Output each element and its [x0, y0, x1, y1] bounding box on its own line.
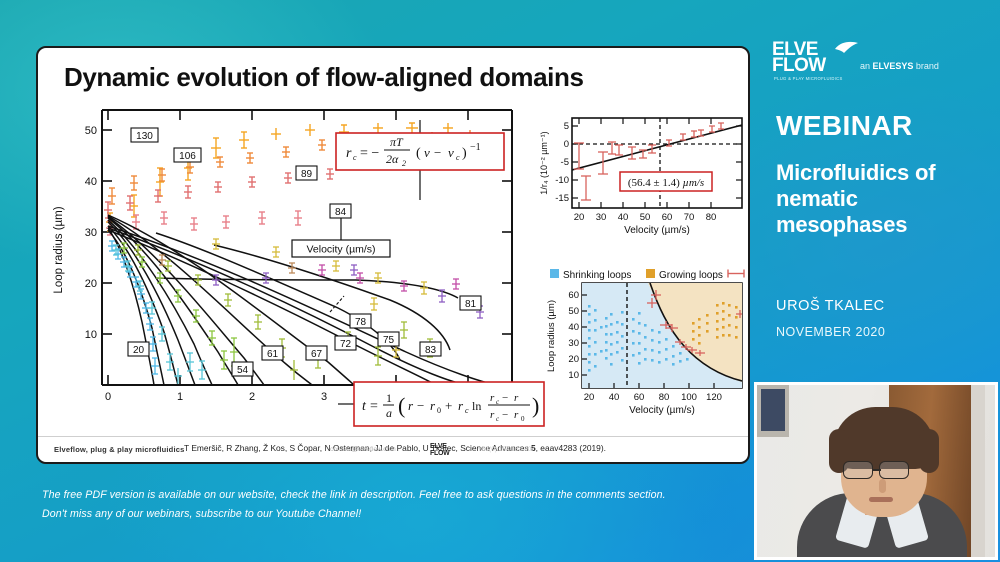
legend-shrinking-label: Shrinking loops	[563, 270, 631, 281]
main-ytick-10: 10	[85, 329, 97, 341]
main-xtick-1: 1	[177, 391, 183, 403]
svg-text:2α: 2α	[386, 152, 399, 166]
speaker-name: UROŠ TKALEC	[776, 298, 885, 314]
webinar-label: WEBINAR	[776, 110, 913, 142]
equation-rc-box: rc = − πT 2α2 ( v − vc ) −1	[336, 133, 504, 170]
cam-glasses-left	[843, 461, 873, 479]
svg-text:30: 30	[596, 212, 607, 223]
swoosh-icon	[834, 40, 860, 54]
svg-text:r: r	[346, 146, 352, 161]
svg-text:81: 81	[465, 299, 477, 310]
footer-phone: +33(0) 184 163 807	[478, 446, 535, 453]
slide-footer: Elveflow, plug & play microfluidics cont…	[38, 436, 750, 462]
figure-container: 50 40 30 20 10 Loop radius (µm) 0 1 2 3	[38, 100, 750, 440]
cam-glasses-right	[879, 461, 909, 479]
inset1-xlabel: Velocity (µm/s)	[624, 225, 690, 236]
svg-text:40: 40	[618, 212, 629, 223]
footer-company: Elveflow, plug & play microfluidics	[54, 445, 185, 454]
slide-title: Dynamic evolution of flow-aligned domain…	[64, 62, 584, 93]
svg-text:−1: −1	[470, 142, 481, 153]
svg-text:60: 60	[662, 212, 673, 223]
webinar-date: NOVEMBER 2020	[776, 325, 885, 339]
svg-text:130: 130	[136, 131, 153, 142]
svg-text:r: r	[490, 392, 495, 404]
svg-text:20: 20	[133, 345, 145, 356]
caption-line-2: Don't miss any of our webinars, subscrib…	[42, 505, 702, 524]
footer-logo: ELVE FLOW	[430, 443, 449, 457]
legend-growing-label: Growing loops	[659, 270, 723, 281]
svg-text:(: (	[398, 393, 405, 418]
svg-text:(: (	[416, 146, 421, 161]
footer-email: contact@elveflow.com	[330, 446, 396, 453]
cam-mouth	[869, 497, 893, 502]
cam-glasses-bridge	[873, 469, 881, 471]
svg-text:10: 10	[568, 370, 579, 381]
cam-nose	[879, 479, 886, 493]
svg-text:70: 70	[684, 212, 695, 223]
velocity-legend-box: Velocity (µm/s)	[292, 240, 390, 257]
cam-hair-right	[919, 429, 939, 473]
svg-text:−: −	[502, 392, 508, 404]
elveflow-logo: ELVE FLOW PLUG & PLAY MICROFLUIDICS an E…	[772, 42, 982, 90]
svg-text:Velocity (µm/s): Velocity (µm/s)	[306, 244, 375, 256]
svg-text:c: c	[456, 153, 460, 162]
main-xtick-3: 3	[321, 391, 327, 403]
svg-text:πT: πT	[390, 135, 404, 149]
brand-parent: an ELVESYS brand	[860, 61, 939, 71]
phase-legend: Shrinking loops Growing loops r₀	[550, 269, 750, 281]
critical-velocity-annotation: (56.4 ± 1.4) µm/s	[620, 172, 712, 191]
svg-text:-5: -5	[561, 157, 569, 168]
svg-text:20: 20	[568, 354, 579, 365]
cam-shelf-books	[761, 389, 785, 431]
main-ylabel: Loop radius (µm)	[53, 206, 65, 293]
main-ytick-50: 50	[85, 125, 97, 137]
brand-tagline: PLUG & PLAY MICROFLUIDICS	[774, 76, 843, 81]
inset1-ylabel: 1/r₄ (10⁻² µm⁻¹)	[539, 131, 549, 194]
svg-text:2: 2	[402, 159, 406, 168]
svg-text:89: 89	[301, 169, 313, 180]
main-xtick-0: 0	[105, 391, 111, 403]
main-chart: 50 40 30 20 10 Loop radius (µm) 0 1 2 3	[53, 110, 544, 426]
svg-text:20: 20	[584, 392, 595, 403]
inset2-ylabel: Loop radius (µm)	[546, 300, 557, 372]
svg-text:1: 1	[386, 391, 392, 405]
main-ytick-20: 20	[85, 278, 97, 290]
svg-text:120: 120	[706, 392, 722, 403]
svg-text:30: 30	[568, 338, 579, 349]
cam-door-frame	[971, 385, 985, 560]
presentation-slide: Dynamic evolution of flow-aligned domain…	[36, 46, 750, 464]
svg-text:c: c	[353, 153, 357, 162]
svg-text:0: 0	[521, 415, 525, 423]
svg-text:50: 50	[640, 212, 651, 223]
main-ytick-40: 40	[85, 176, 97, 188]
svg-text:ln: ln	[472, 399, 481, 413]
inset-inverse-rc-chart: 50 -5-10-15 1/r₄ (10⁻² µm⁻¹) 203040 5060…	[539, 118, 742, 236]
svg-text:106: 106	[179, 151, 196, 162]
main-xtick-2: 2	[249, 391, 255, 403]
svg-text:20: 20	[574, 212, 585, 223]
svg-text:78: 78	[355, 317, 367, 328]
presenter-webcam[interactable]	[754, 382, 998, 560]
svg-text:r: r	[514, 409, 519, 421]
svg-text:40: 40	[568, 322, 579, 333]
svg-text:72: 72	[340, 339, 352, 350]
svg-text:v: v	[424, 145, 430, 160]
svg-text:−: −	[434, 145, 441, 160]
svg-text:a: a	[386, 406, 392, 420]
svg-text:−: −	[417, 398, 424, 413]
svg-text:75: 75	[383, 335, 395, 346]
bottom-caption: The free PDF version is available on our…	[42, 486, 702, 524]
svg-text:c: c	[465, 406, 469, 415]
webinar-title: Microfluidics of nematic mesophases	[776, 160, 991, 238]
svg-text:= −: = −	[360, 146, 379, 161]
svg-text:0: 0	[437, 406, 441, 415]
svg-text:): )	[462, 146, 467, 161]
svg-text:40: 40	[609, 392, 620, 403]
svg-text:v: v	[448, 145, 454, 160]
svg-text:(56.4 ± 1.4) µm/s: (56.4 ± 1.4) µm/s	[628, 177, 704, 189]
figure-svg: 50 40 30 20 10 Loop radius (µm) 0 1 2 3	[38, 100, 750, 440]
inset-phase-diagram-chart: Shrinking loops Growing loops r₀	[546, 269, 750, 416]
main-ytick-30: 30	[85, 227, 97, 239]
svg-text:54: 54	[237, 365, 249, 376]
svg-text:5: 5	[564, 121, 569, 132]
svg-text:67: 67	[311, 349, 323, 360]
svg-text:61: 61	[267, 349, 279, 360]
svg-text:60: 60	[634, 392, 645, 403]
svg-text:−: −	[502, 409, 508, 421]
svg-text:100: 100	[681, 392, 697, 403]
svg-text:83: 83	[425, 345, 437, 356]
svg-text:): )	[532, 393, 539, 418]
svg-text:80: 80	[659, 392, 670, 403]
svg-text:+: +	[445, 398, 452, 413]
equation-t-box: t = 1 a ( r − r0 + rc ln rc − r rc	[354, 382, 544, 426]
svg-text:-15: -15	[555, 193, 569, 204]
svg-text:84: 84	[335, 207, 347, 218]
svg-text:80: 80	[706, 212, 717, 223]
inset2-xlabel: Velocity (µm/s)	[629, 405, 695, 416]
caption-line-1: The free PDF version is available on our…	[42, 486, 702, 505]
svg-text:r: r	[514, 392, 519, 404]
brand-logo-text: ELVE FLOW	[772, 42, 826, 74]
svg-text:=: =	[370, 399, 378, 414]
svg-text:50: 50	[568, 306, 579, 317]
svg-text:0: 0	[564, 139, 569, 150]
svg-text:-10: -10	[555, 175, 569, 186]
svg-text:r: r	[490, 409, 495, 421]
svg-text:60: 60	[568, 290, 579, 301]
